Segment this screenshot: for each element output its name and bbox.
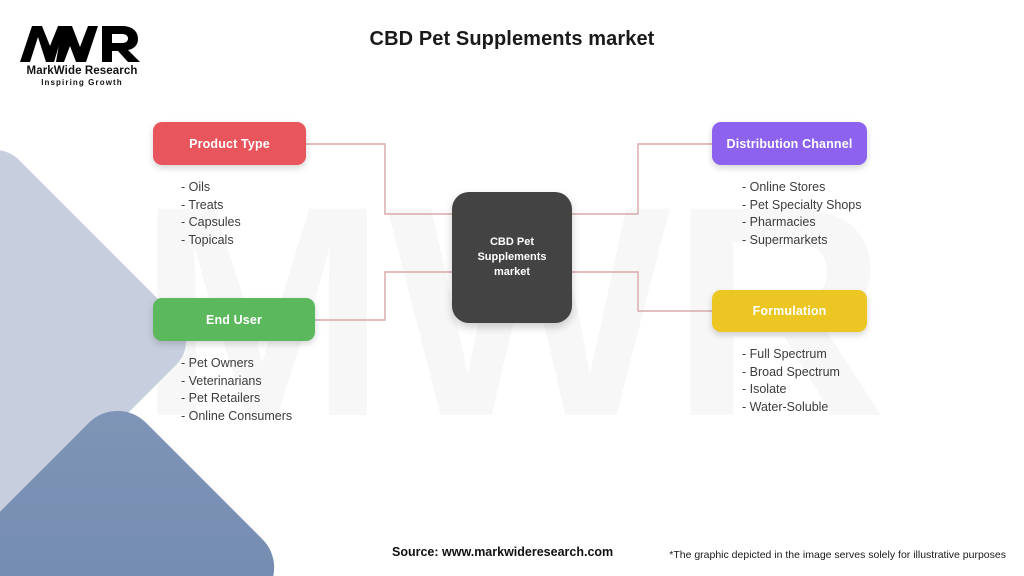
branch-header-distribution-channel[interactable]: Distribution Channel [712, 122, 867, 165]
logo-company-name: MarkWide Research [18, 65, 146, 77]
source-label: Source: www.markwideresearch.com [392, 545, 613, 559]
branch-list-product-type: - Oils - Treats - Capsules - Topicals [153, 179, 306, 249]
infographic-canvas: MWR MarkWide Research Inspiring Growth C… [0, 0, 1024, 576]
connector-formulation [572, 272, 712, 311]
branch-formulation: Formulation - Full Spectrum - Broad Spec… [712, 290, 867, 416]
list-item: - Pet Specialty Shops [742, 197, 867, 215]
list-item: - Online Stores [742, 179, 867, 197]
branch-list-formulation: - Full Spectrum - Broad Spectrum - Isola… [712, 346, 867, 416]
branch-distribution-channel: Distribution Channel - Online Stores - P… [712, 122, 867, 249]
list-item: - Treats [181, 197, 306, 215]
center-node[interactable]: CBD Pet Supplements market [452, 192, 572, 323]
branch-list-end-user: - Pet Owners - Veterinarians - Pet Retai… [153, 355, 315, 425]
connector-product-type [306, 144, 452, 214]
center-node-label: CBD Pet Supplements market [452, 235, 572, 280]
list-item: - Online Consumers [181, 408, 315, 426]
list-item: - Capsules [181, 214, 306, 232]
list-item: - Supermarkets [742, 232, 867, 250]
list-item: - Oils [181, 179, 306, 197]
branch-header-product-type[interactable]: Product Type [153, 122, 306, 165]
list-item: - Full Spectrum [742, 346, 867, 364]
list-item: - Pharmacies [742, 214, 867, 232]
branch-header-formulation[interactable]: Formulation [712, 290, 867, 332]
center-node-label-line1: CBD Pet [490, 236, 534, 248]
branch-product-type: Product Type - Oils - Treats - Capsules … [153, 122, 306, 249]
list-item: - Topicals [181, 232, 306, 250]
list-item: - Isolate [742, 381, 867, 399]
list-item: - Veterinarians [181, 373, 315, 391]
list-item: - Broad Spectrum [742, 364, 867, 382]
logo-tagline: Inspiring Growth [18, 78, 146, 87]
page-title: CBD Pet Supplements market [0, 28, 1024, 51]
connector-end-user [315, 272, 452, 320]
list-item: - Water-Soluble [742, 399, 867, 417]
center-node-label-line2: Supplements market [477, 251, 546, 278]
connector-distribution-channel [572, 144, 712, 214]
branch-list-distribution-channel: - Online Stores - Pet Specialty Shops - … [712, 179, 867, 249]
branch-header-end-user[interactable]: End User [153, 298, 315, 341]
list-item: - Pet Retailers [181, 390, 315, 408]
disclaimer-label: *The graphic depicted in the image serve… [669, 549, 1006, 561]
branch-end-user: End User - Pet Owners - Veterinarians - … [153, 298, 315, 425]
list-item: - Pet Owners [181, 355, 315, 373]
